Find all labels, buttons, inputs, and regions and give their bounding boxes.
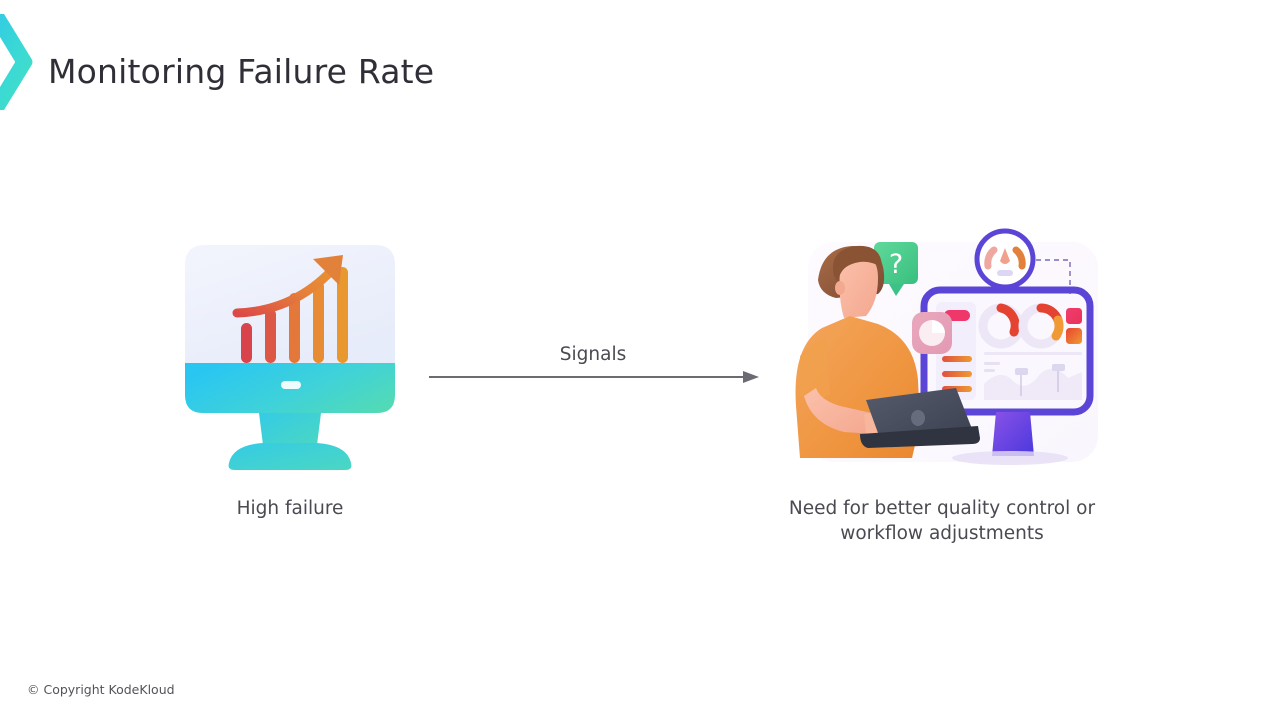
- connector-arrow: [425, 336, 765, 392]
- footer-copyright: © Copyright KodeKloud: [27, 682, 175, 697]
- node-high-failure: [140, 245, 440, 470]
- node-quality-control: ?: [778, 228, 1108, 480]
- pie-chart-badge: [912, 312, 952, 354]
- caption-line-1: Need for better quality control or: [760, 496, 1124, 521]
- caption-line-2: workflow adjustments: [760, 521, 1124, 546]
- monitor-growth-chart-icon: [185, 245, 395, 470]
- svg-text:?: ?: [889, 249, 903, 280]
- analyst-dashboard-illustration: ?: [778, 228, 1108, 480]
- caption-quality-control: Need for better quality control or workf…: [760, 496, 1124, 546]
- diagram-stage: High failure Signals: [0, 0, 1280, 720]
- caption-high-failure: High failure: [140, 496, 440, 521]
- gauge-badge-icon: [977, 231, 1033, 287]
